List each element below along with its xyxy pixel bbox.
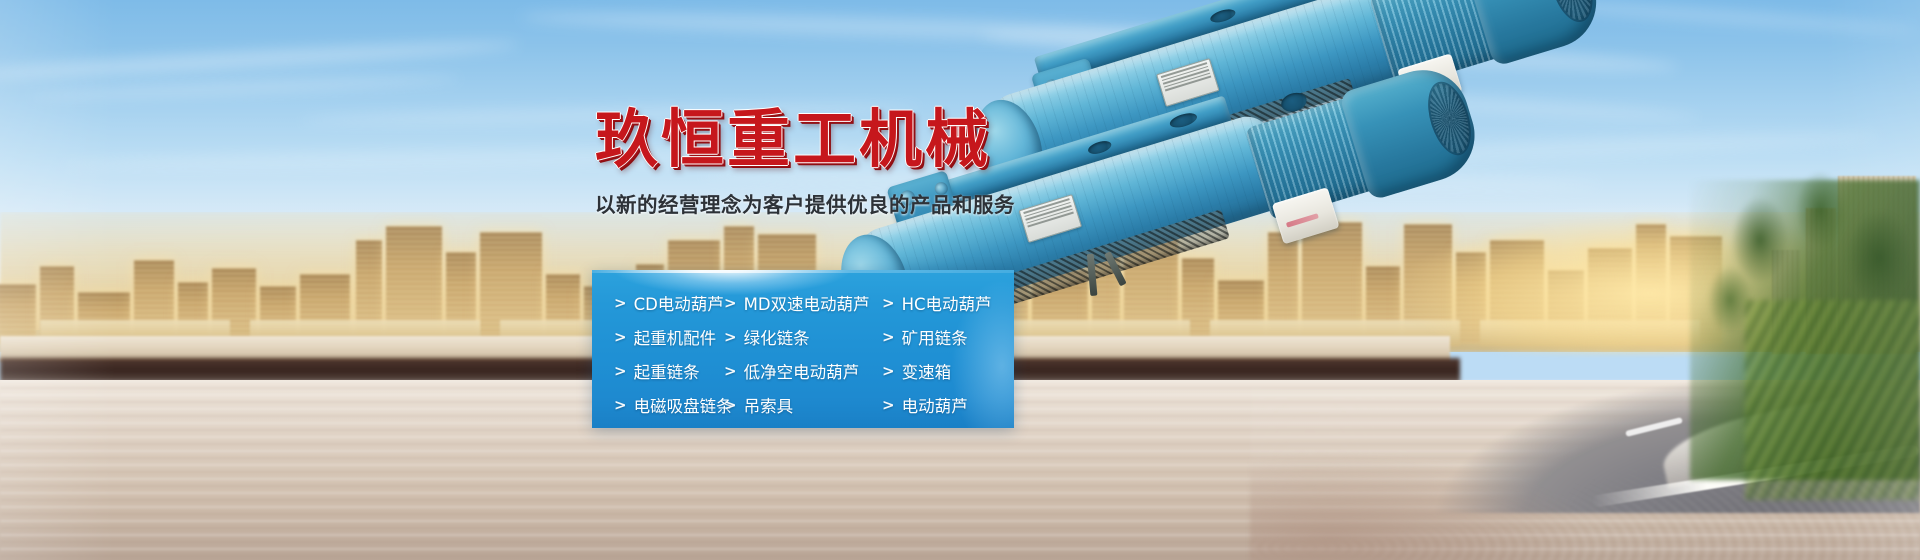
product-link-label: HC电动葫芦 [902,291,992,315]
product-row: > 电磁吸盘链条 > 吊索具 > 电动葫芦 [592,388,1014,422]
product-link-md-dual-speed-hoist[interactable]: > MD双速电动葫芦 [724,291,882,315]
chevron-right-icon: > [614,364,627,379]
product-link-label: 电动葫芦 [902,393,968,417]
chevron-right-icon: > [724,330,737,345]
chevron-right-icon: > [882,398,895,413]
product-link-label: 吊索具 [744,393,794,417]
product-link-label: 起重链条 [634,359,700,383]
product-link-label: 变速箱 [902,359,952,383]
product-links-grid: > CD电动葫芦 > MD双速电动葫芦 > HC电动葫芦 > 起重机配件 [592,270,1014,428]
product-link-crane-parts[interactable]: > 起重机配件 [592,325,724,349]
product-link-electric-hoist[interactable]: > 电动葫芦 [882,393,1014,417]
product-links-panel: > CD电动葫芦 > MD双速电动葫芦 > HC电动葫芦 > 起重机配件 [592,270,1014,428]
company-slogan: 以新的经营理念为客户提供优良的产品和服务 [595,188,1115,218]
product-link-label: 低净空电动葫芦 [744,359,860,383]
product-link-hc-hoist[interactable]: > HC电动葫芦 [882,291,1014,315]
product-row: > 起重机配件 > 绿化链条 > 矿用链条 [592,320,1014,354]
product-link-gearbox[interactable]: > 变速箱 [882,359,1014,383]
chevron-right-icon: > [614,398,627,413]
product-link-landscaping-chain[interactable]: > 绿化链条 [724,325,882,349]
title-block: 玖恒重工机械 以新的经营理念为客户提供优良的产品和服务 [595,108,1115,218]
product-link-cd-hoist[interactable]: > CD电动葫芦 [592,291,724,315]
product-link-label: CD电动葫芦 [634,291,724,315]
product-link-mining-chain[interactable]: > 矿用链条 [882,325,1014,349]
product-link-lifting-chain[interactable]: > 起重链条 [592,359,724,383]
chevron-right-icon: > [724,364,737,379]
hero-banner: 玖恒重工机械 以新的经营理念为客户提供优良的产品和服务 > CD电动葫芦 > M… [0,0,1920,560]
hillside-grass [1745,300,1920,500]
product-row: > CD电动葫芦 > MD双速电动葫芦 > HC电动葫芦 [592,286,1014,320]
product-link-low-headroom-hoist[interactable]: > 低净空电动葫芦 [724,359,882,383]
chevron-right-icon: > [882,364,895,379]
product-link-label: 矿用链条 [902,325,968,349]
product-link-label: MD双速电动葫芦 [744,291,870,315]
product-link-label: 起重机配件 [634,325,717,349]
chevron-right-icon: > [724,296,737,311]
product-link-magnetic-chuck-chain[interactable]: > 电磁吸盘链条 [592,393,724,417]
chevron-right-icon: > [882,296,895,311]
company-title: 玖恒重工机械 [595,108,1115,172]
product-row: > 起重链条 > 低净空电动葫芦 > 变速箱 [592,354,1014,388]
chevron-right-icon: > [614,330,627,345]
chevron-right-icon: > [882,330,895,345]
chevron-right-icon: > [724,398,737,413]
product-link-label: 电磁吸盘链条 [634,393,733,417]
product-link-label: 绿化链条 [744,325,810,349]
chevron-right-icon: > [614,296,627,311]
product-link-slings[interactable]: > 吊索具 [724,393,882,417]
